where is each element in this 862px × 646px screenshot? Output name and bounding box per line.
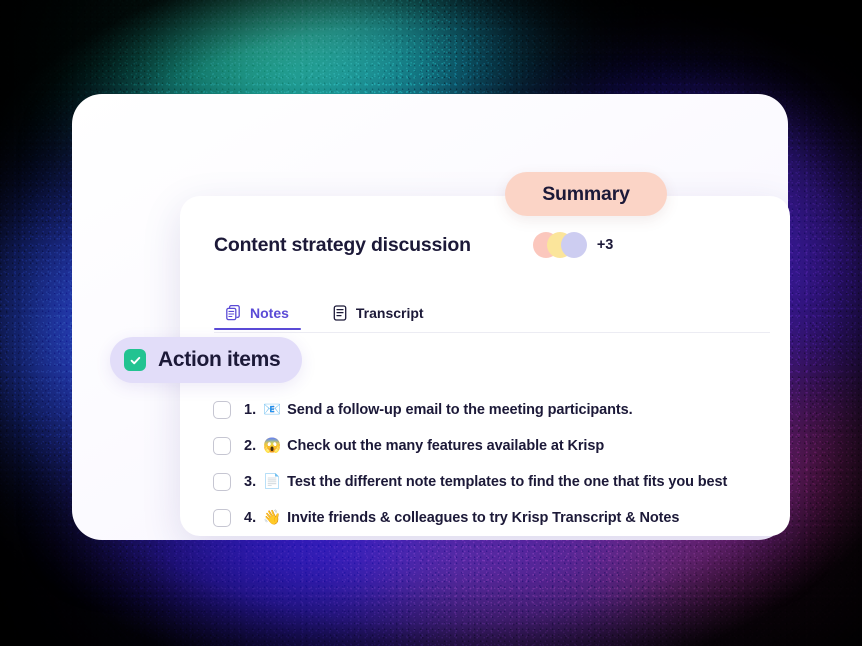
list-item[interactable]: 2. 😱 Check out the many features availab… <box>213 428 793 464</box>
tab-notes[interactable]: Notes <box>214 305 301 330</box>
notes-stack-icon <box>226 305 241 321</box>
item-text: Test the different note templates to fin… <box>287 474 727 490</box>
participants-overflow-count[interactable]: +3 <box>597 237 614 253</box>
list-item[interactable]: 4. 👋 Invite friends & colleagues to try … <box>213 500 793 536</box>
checked-checkbox-icon <box>124 349 146 371</box>
summary-badge[interactable]: Summary <box>505 172 667 216</box>
item-number: 3. <box>244 474 256 490</box>
avatar-stack[interactable] <box>533 232 587 258</box>
item-text: Check out the many features available at… <box>287 438 604 454</box>
screenshot-stage: Content strategy discussion +3 <box>0 0 862 646</box>
item-checkbox[interactable] <box>213 473 231 491</box>
item-text: Invite friends & colleagues to try Krisp… <box>287 510 679 526</box>
participants-group[interactable]: +3 <box>533 232 614 258</box>
avatar[interactable] <box>561 232 587 258</box>
action-items-badge[interactable]: Action items <box>110 337 302 383</box>
summary-badge-label: Summary <box>542 183 629 206</box>
item-checkbox[interactable] <box>213 401 231 419</box>
action-items-list: 1. 📧 Send a follow-up email to the meeti… <box>213 392 793 536</box>
list-item[interactable]: 1. 📧 Send a follow-up email to the meeti… <box>213 392 793 428</box>
tab-transcript-label: Transcript <box>356 305 424 321</box>
item-number: 4. <box>244 510 256 526</box>
tab-notes-label: Notes <box>250 305 289 321</box>
envelope-emoji: 📧 <box>263 403 281 418</box>
item-checkbox[interactable] <box>213 509 231 527</box>
transcript-list-icon <box>333 305 347 321</box>
tab-bar: Notes Transcript <box>214 296 790 330</box>
page-document-emoji: 📄 <box>263 475 281 490</box>
tab-transcript[interactable]: Transcript <box>321 305 436 330</box>
glow-blob-green <box>120 0 450 94</box>
screaming-face-emoji: 😱 <box>263 439 281 454</box>
page-title: Content strategy discussion <box>214 234 471 257</box>
item-number: 1. <box>244 402 256 418</box>
list-item[interactable]: 3. 📄 Test the different note templates t… <box>213 464 793 500</box>
tab-bar-divider <box>214 332 770 333</box>
item-number: 2. <box>244 438 256 454</box>
waving-hand-emoji: 👋 <box>263 511 281 526</box>
item-text: Send a follow-up email to the meeting pa… <box>287 402 632 418</box>
panel-header: Content strategy discussion +3 <box>214 226 790 264</box>
item-checkbox[interactable] <box>213 437 231 455</box>
action-items-badge-label: Action items <box>158 348 280 372</box>
